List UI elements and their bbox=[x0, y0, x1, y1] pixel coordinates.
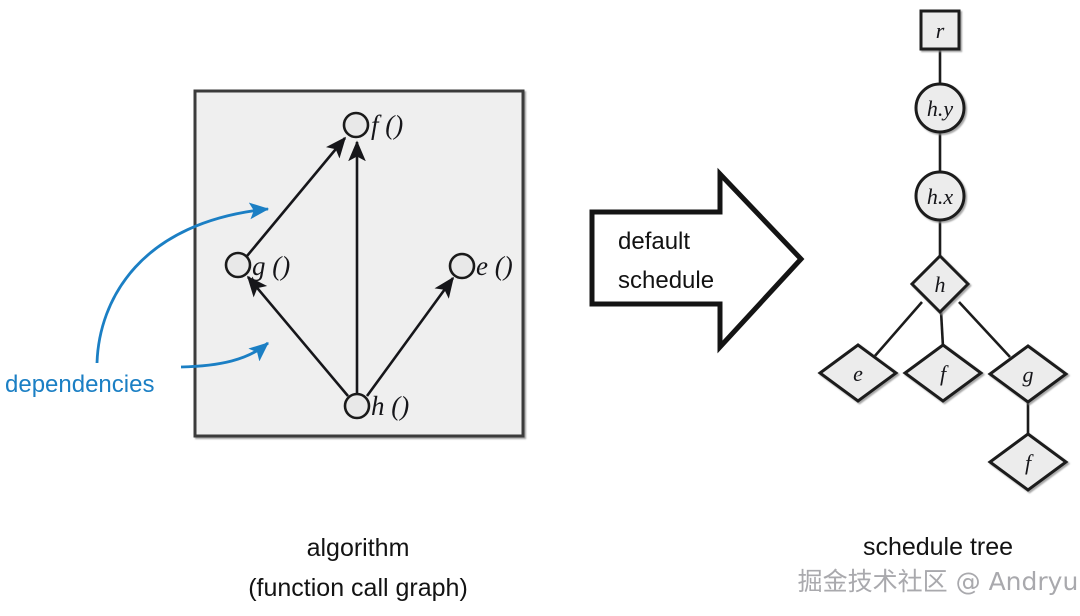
schedule-tree: r h.y h.x h bbox=[820, 11, 1066, 490]
tree-node-e[interactable]: e bbox=[820, 345, 896, 401]
tree-node-e-label: e bbox=[853, 361, 863, 386]
tree-edge-h-e bbox=[874, 302, 922, 357]
node-circle-e bbox=[450, 254, 474, 278]
tree-node-hx-label: h.x bbox=[927, 184, 954, 209]
algorithm-caption-line1: algorithm bbox=[307, 534, 410, 562]
algorithm-panel: f () g () e () h () bbox=[195, 91, 523, 436]
tree-node-h-label: h bbox=[935, 272, 946, 297]
tree-edge-h-g bbox=[959, 302, 1010, 357]
schedule-tree-caption: schedule tree bbox=[863, 533, 1013, 561]
call-graph-node-f-label: f () bbox=[371, 110, 403, 140]
call-graph-node-f[interactable]: f () bbox=[344, 110, 403, 140]
diagram-svg: f () g () e () h () dependencie bbox=[0, 0, 1080, 616]
node-circle-f bbox=[344, 113, 368, 137]
call-graph-node-g[interactable]: g () bbox=[226, 251, 290, 281]
tree-node-g[interactable]: g bbox=[990, 346, 1066, 402]
tree-node-hx[interactable]: h.x bbox=[916, 172, 964, 220]
watermark-label: 掘金技术社区 @ Andryu bbox=[798, 567, 1079, 596]
tree-node-f-middle[interactable]: f bbox=[905, 345, 981, 401]
node-circle-g bbox=[226, 253, 250, 277]
tree-node-hy-label: h.y bbox=[927, 96, 954, 121]
block-arrow-shape bbox=[592, 174, 801, 347]
tree-node-hy[interactable]: h.y bbox=[916, 84, 964, 132]
tree-node-g-label: g bbox=[1023, 362, 1034, 387]
tree-edge-h-f1 bbox=[941, 311, 943, 347]
tree-node-r-label: r bbox=[936, 18, 945, 43]
algorithm-caption-line2: (function call graph) bbox=[248, 574, 468, 602]
call-graph-node-e[interactable]: e () bbox=[450, 251, 513, 281]
figure-canvas: f () g () e () h () dependencie bbox=[0, 0, 1080, 616]
call-graph-node-h[interactable]: h () bbox=[345, 391, 409, 421]
call-graph-node-e-label: e () bbox=[476, 251, 513, 281]
node-circle-h bbox=[345, 394, 369, 418]
tree-node-f-leaf[interactable]: f bbox=[990, 434, 1066, 490]
block-arrow-label-line1: default bbox=[618, 228, 690, 255]
default-schedule-arrow[interactable]: default schedule bbox=[592, 174, 801, 347]
call-graph-node-g-label: g () bbox=[252, 251, 290, 281]
call-graph-node-h-label: h () bbox=[371, 391, 409, 421]
tree-node-r[interactable]: r bbox=[921, 11, 959, 49]
block-arrow-label-line2: schedule bbox=[618, 267, 714, 294]
dependencies-label: dependencies bbox=[5, 371, 154, 398]
